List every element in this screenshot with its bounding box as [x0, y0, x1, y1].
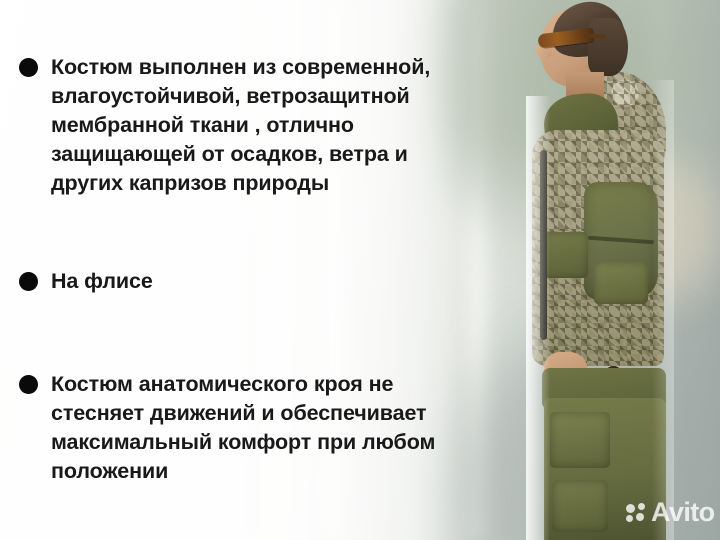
product-photo-person — [492, 0, 720, 540]
bullet-dot-icon — [19, 58, 38, 77]
list-item: Костюм выполнен из современной, влагоуст… — [19, 53, 430, 198]
feature-bullet-list: Костюм выполнен из современной, влагоуст… — [0, 0, 470, 540]
avito-watermark: Avito — [626, 499, 715, 526]
list-item-label: Костюм анатомического кроя не стесняет д… — [51, 370, 435, 486]
photo-left-fade — [526, 96, 550, 540]
avito-wordmark: Avito — [651, 499, 715, 526]
bullet-dot-icon — [19, 272, 38, 291]
product-card: Костюм выполнен из современной, влагоуст… — [0, 0, 720, 540]
garment-cargo-pocket-lower — [552, 480, 608, 532]
list-item-label: Костюм выполнен из современной, влагоуст… — [51, 53, 430, 198]
garment-chest-pocket — [544, 232, 588, 278]
garment-side-pocket — [594, 262, 648, 304]
list-item: Костюм анатомического кроя не стесняет д… — [19, 370, 435, 486]
list-item: На флисе — [19, 267, 153, 296]
list-item-label: На флисе — [51, 267, 153, 296]
bullet-dot-icon — [19, 375, 38, 394]
person-hair-back — [588, 18, 628, 76]
avito-four-dots-icon — [626, 503, 645, 522]
garment-cargo-pocket-upper — [550, 412, 610, 468]
photo-rim-light — [652, 80, 674, 540]
